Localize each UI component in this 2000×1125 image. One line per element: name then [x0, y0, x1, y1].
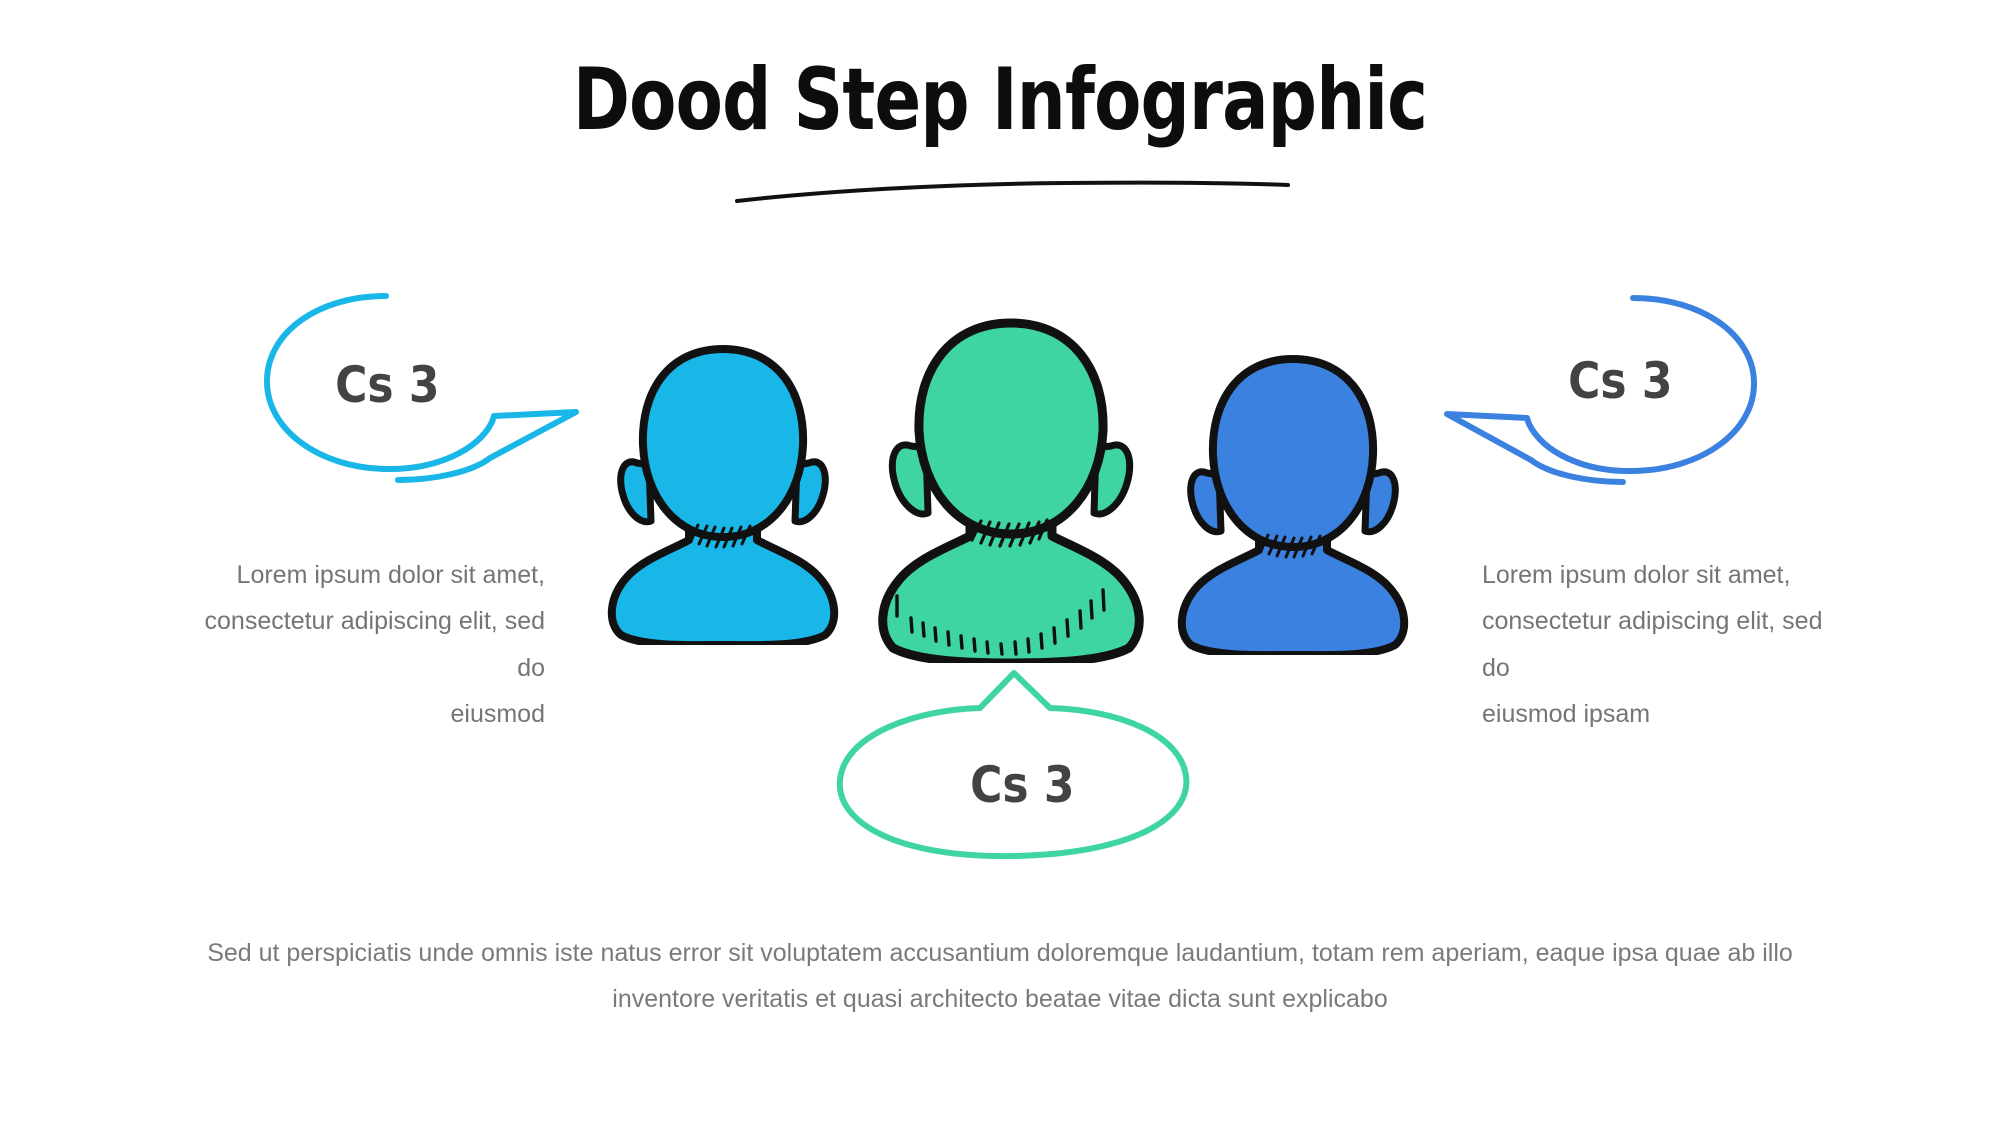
bubble-bottom-label: Cs 3: [970, 756, 1074, 814]
description-right-line-3: eiusmod ipsam: [1482, 691, 1847, 737]
person-avatar-cyan: [603, 345, 843, 645]
infographic-slide: Dood Step Infographic: [0, 0, 2000, 1125]
description-right-line-2: consectetur adipiscing elit, sed do: [1482, 598, 1847, 691]
description-right-line-1: Lorem ipsum dolor sit amet,: [1482, 552, 1847, 598]
footer-line-2: inventore veritatis et quasi architecto …: [0, 976, 2000, 1022]
description-left-line-2: consectetur adipiscing elit, sed do: [180, 598, 545, 691]
page-title: Dood Step Infographic: [200, 55, 1800, 145]
speech-bubble-left[interactable]: Cs 3: [258, 288, 588, 488]
bubble-right-label: Cs 3: [1568, 352, 1672, 410]
speech-bubble-bottom[interactable]: Cs 3: [828, 668, 1198, 863]
speech-bubble-right[interactable]: Cs 3: [1443, 290, 1763, 485]
description-right: Lorem ipsum dolor sit amet, consectetur …: [1482, 552, 1847, 737]
footer-description: Sed ut perspiciatis unde omnis iste natu…: [0, 930, 2000, 1023]
person-avatar-green: [875, 318, 1147, 663]
bubble-left-label: Cs 3: [335, 356, 439, 414]
page-title-block: Dood Step Infographic: [0, 55, 2000, 145]
description-left-line-3: eiusmod: [180, 691, 545, 737]
footer-line-1: Sed ut perspiciatis unde omnis iste natu…: [0, 930, 2000, 976]
title-underline-icon: [735, 178, 1290, 204]
person-avatar-blue: [1173, 355, 1413, 655]
description-left: Lorem ipsum dolor sit amet, consectetur …: [180, 552, 545, 737]
description-left-line-1: Lorem ipsum dolor sit amet,: [180, 552, 545, 598]
